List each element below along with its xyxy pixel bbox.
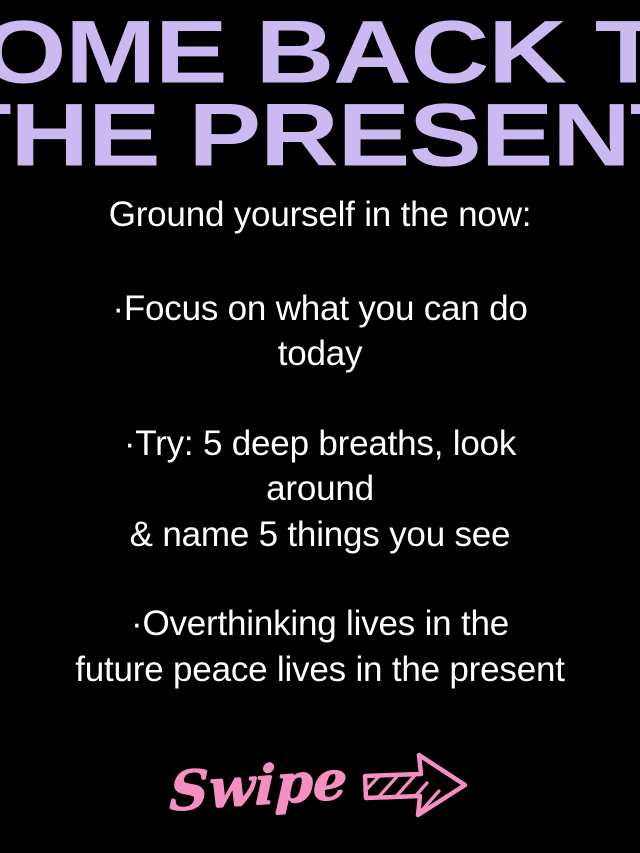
- body-copy: Ground yourself in the now: ·Focus on wh…: [0, 192, 640, 692]
- bullet-item-3: ·Overthinking lives in the future peace …: [0, 601, 640, 692]
- spacer: [0, 377, 640, 421]
- title-line-1: COME BACK TO: [0, 12, 640, 94]
- poster-canvas: COME BACK TO THE PRESENT Ground yourself…: [0, 0, 640, 853]
- bullet-item-1: ·Focus on what you can do today: [0, 286, 640, 377]
- bullet-3-line-1: ·Overthinking lives in the: [0, 601, 640, 647]
- intro-text: Ground yourself in the now:: [0, 192, 640, 238]
- bullet-3-line-2: future peace lives in the present: [0, 647, 640, 693]
- swipe-label: Swipe: [168, 752, 348, 819]
- intro-line: Ground yourself in the now:: [0, 192, 640, 238]
- bullet-1-line-2: today: [0, 331, 640, 377]
- bullet-2-line-2: around: [0, 466, 640, 512]
- bullet-2-line-3: & name 5 things you see: [0, 512, 640, 558]
- title-line-2: THE PRESENT: [0, 95, 640, 177]
- bullet-2-line-1: ·Try: 5 deep breaths, look: [0, 421, 640, 467]
- bullet-1-line-1: ·Focus on what you can do: [0, 286, 640, 332]
- bullet-item-2: ·Try: 5 deep breaths, look around & name…: [0, 421, 640, 558]
- spacer: [0, 238, 640, 286]
- page-title: COME BACK TO THE PRESENT: [0, 14, 640, 175]
- spacer: [0, 557, 640, 601]
- hatched-right-arrow-icon: [361, 749, 471, 821]
- swipe-cta[interactable]: Swipe: [0, 735, 640, 835]
